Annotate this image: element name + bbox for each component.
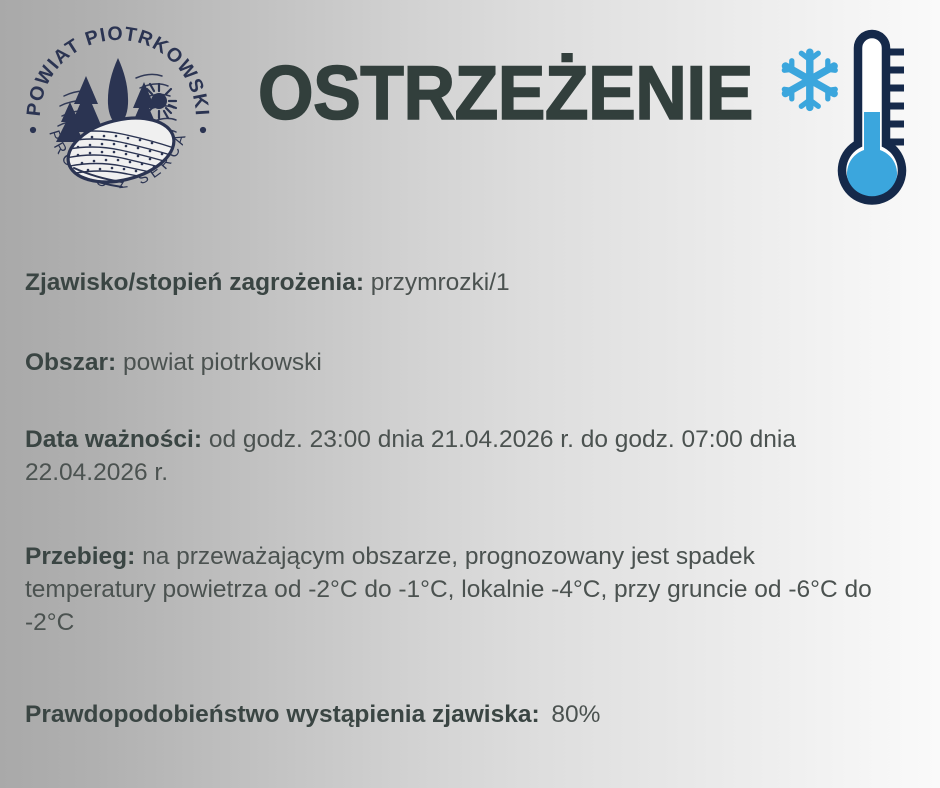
detail-row-phenomenon: Zjawisko/stopień zagrożenia: przymrozki/… — [25, 266, 905, 299]
phenomenon-label: Zjawisko/stopień zagrożenia: — [25, 269, 364, 296]
page-title: OSTRZEŻENIE — [258, 52, 753, 136]
detail-row-probability: Prawdopodobieństwo wystąpienia zjawiska:… — [25, 698, 905, 731]
probability-label: Prawdopodobieństwo wystąpienia zjawiska: — [25, 701, 540, 728]
frost-warning-icon — [764, 22, 924, 218]
snowflake-icon — [784, 52, 835, 107]
detail-row-course: Przebieg: na przeważającym obszarze, pro… — [25, 540, 881, 639]
course-label: Przebieg: — [25, 543, 135, 570]
area-label: Obszar: — [25, 349, 116, 376]
validity-label: Data ważności: — [25, 426, 202, 453]
poster-header: POWIAT PIOTRKOWSKI PROSTO Z SERCA — [0, 0, 940, 232]
course-value: na przeważającym obszarze, prognozowany … — [25, 543, 872, 636]
warning-poster: POWIAT PIOTRKOWSKI PROSTO Z SERCA — [0, 0, 940, 788]
detail-row-validity: Data ważności: od godz. 23:00 dnia 21.04… — [25, 423, 897, 489]
area-value: powiat piotrkowski — [123, 349, 322, 376]
thermometer-icon — [842, 34, 904, 201]
powiat-piotrkowski-logo: POWIAT PIOTRKOWSKI PROSTO Z SERCA — [18, 18, 218, 218]
probability-value: 80% — [551, 701, 600, 728]
phenomenon-value: przymrozki/1 — [371, 269, 510, 296]
detail-row-area: Obszar: powiat piotrkowski — [25, 346, 905, 379]
